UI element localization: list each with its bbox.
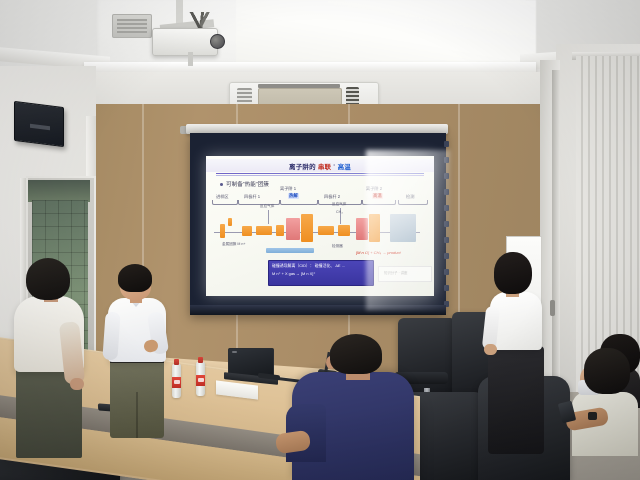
- bottle-label: [172, 377, 181, 388]
- recessed-light-panel: [236, 0, 536, 62]
- formula-line-2: M n⁺ + X gas → [M n X]⁺: [272, 271, 368, 276]
- screen-tab: [444, 189, 449, 195]
- screen-bottom-weight: [190, 305, 446, 315]
- screen-tab: [444, 285, 449, 291]
- person-hair: [118, 264, 152, 292]
- trouser-seam: [136, 392, 138, 438]
- person-hair: [330, 334, 382, 374]
- person-hair: [494, 252, 532, 294]
- slide-title-sep: ·: [333, 162, 335, 169]
- screen-tab: [444, 157, 449, 163]
- schematic-caption-gas-in: 反应气体: [260, 204, 274, 209]
- schematic-trap-body: [301, 214, 313, 242]
- laptop-logo-icon: [232, 351, 237, 353]
- schematic-product-equation: [M n O] + CH₄ → product: [356, 250, 401, 255]
- slide-bullet-row: 可制备“热能”团簇: [220, 180, 269, 188]
- person-hand: [484, 344, 497, 355]
- stage-label-6: 高温: [372, 193, 383, 199]
- bullet-dot-icon: [220, 183, 223, 186]
- schematic-block: [276, 225, 284, 236]
- screen-tab: [444, 221, 449, 227]
- slide-title: 离子阱的 串联 · 高温: [206, 159, 434, 172]
- schematic-caption-gas-in2: 反应气体: [332, 202, 346, 207]
- meeting-room-photo: 离子阱的 串联 · 高温 可制备“热能”团簇 进样区 四极杆 1 热解 离子阱 …: [0, 0, 640, 480]
- schematic-caption-ch4: CH₄: [336, 210, 343, 214]
- schematic-block: [220, 224, 225, 238]
- stage-label-2: 热解: [288, 193, 299, 199]
- schematic-trap-body: [369, 214, 380, 242]
- screen-tab: [444, 173, 449, 179]
- schematic-block: [228, 218, 232, 226]
- schematic-caption-detector: 检测器: [332, 244, 343, 249]
- schematic-block: [242, 226, 252, 236]
- slide-title-part1: 离子阱的: [289, 161, 316, 171]
- water-bottle[interactable]: [172, 364, 181, 398]
- slide-title-underline-2: [216, 175, 424, 176]
- schematic-baseplate: [266, 248, 314, 253]
- screen-tab: [444, 205, 449, 211]
- wristwatch-icon: [588, 412, 597, 420]
- projected-slide: 离子阱的 串联 · 高温 可制备“热能”团簇 进样区 四极杆 1 热解 离子阱 …: [206, 156, 434, 296]
- projector-stem: [188, 52, 193, 66]
- screen-tab: [444, 269, 449, 275]
- slide-watermark: 知识分子 · 讲座: [384, 270, 407, 275]
- ceiling-vent-icon: [112, 14, 152, 38]
- stage-brace: [398, 200, 428, 205]
- schematic-detector: [390, 214, 416, 242]
- person-skirt: [488, 346, 544, 454]
- water-bottle[interactable]: [196, 362, 205, 396]
- bottle-label: [196, 375, 205, 386]
- door-handle[interactable]: [550, 300, 555, 316]
- stage-brace: [280, 200, 318, 205]
- stage-brace: [362, 200, 396, 205]
- stage-label-3: 离子阱 1: [280, 186, 296, 192]
- schematic-inlet-line: [268, 210, 269, 224]
- person-hair: [26, 258, 70, 300]
- door-jamb: [552, 70, 560, 410]
- projector-lens-icon: [210, 34, 225, 49]
- screen-tab: [444, 141, 449, 147]
- person-hair: [584, 348, 630, 394]
- window-header: [28, 180, 90, 202]
- screen-tab: [444, 237, 449, 243]
- stage-label-5: 离子阱 2: [366, 186, 382, 192]
- schematic-block: [338, 225, 350, 236]
- stage-brace: [212, 200, 238, 205]
- schematic-caption-source: 金属团簇 M n+: [222, 242, 245, 247]
- slide-title-part3: 高温: [338, 161, 351, 171]
- ceiling-projector: [152, 28, 218, 56]
- slide-title-part2: 串联: [318, 161, 331, 171]
- schematic-trap: [356, 218, 368, 240]
- screen-tab: [444, 253, 449, 259]
- slide-bullet-text: 可制备“热能”团簇: [226, 180, 269, 188]
- schematic-trap: [286, 218, 300, 240]
- schematic-block: [318, 226, 334, 235]
- schematic-block: [256, 226, 272, 235]
- formula-line-1: 碰撞诱导解离（CID）： 碰撞活化、 ΔE …: [272, 263, 368, 269]
- person-hand: [70, 378, 84, 390]
